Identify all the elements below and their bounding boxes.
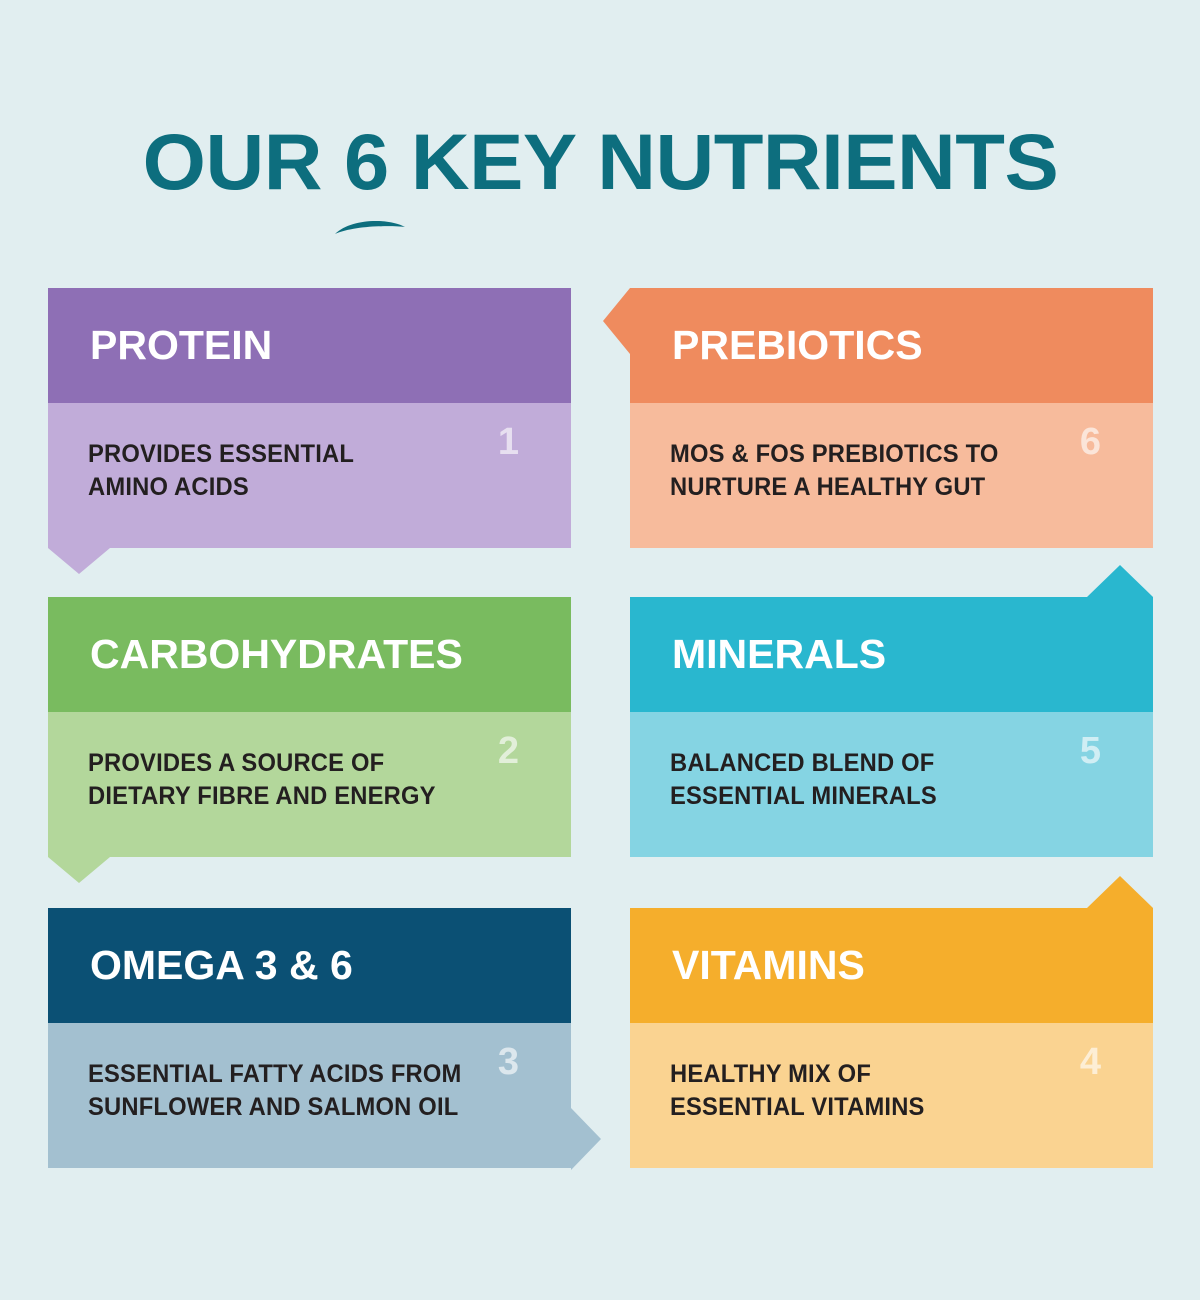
card-vitamins-number: 4 xyxy=(1080,1043,1101,1081)
card-protein-title: PROTEIN xyxy=(48,325,272,366)
card-protein-arrow-down-icon xyxy=(48,548,110,574)
card-omega-header: OMEGA 3 & 6 xyxy=(48,908,571,1023)
card-carbohydrates-title: CARBOHYDRATES xyxy=(48,634,463,675)
card-carbohydrates-body: PROVIDES A SOURCE OF DIETARY FIBRE AND E… xyxy=(48,712,571,857)
card-minerals-body: BALANCED BLEND OF ESSENTIAL MINERALS 5 xyxy=(630,712,1153,857)
card-vitamins-body: HEALTHY MIX OF ESSENTIAL VITAMINS 4 xyxy=(630,1023,1153,1168)
card-minerals-number: 5 xyxy=(1080,732,1101,770)
card-omega-arrow-right-icon xyxy=(571,1108,601,1170)
card-vitamins-description: HEALTHY MIX OF ESSENTIAL VITAMINS xyxy=(670,1058,925,1125)
nutrient-cards-grid: PROTEIN PROVIDES ESSENTIAL AMINO ACIDS 1… xyxy=(0,0,1200,1300)
card-carbohydrates[interactable]: CARBOHYDRATES PROVIDES A SOURCE OF DIETA… xyxy=(48,597,571,857)
card-protein-description: PROVIDES ESSENTIAL AMINO ACIDS xyxy=(88,438,354,505)
card-prebiotics-header: PREBIOTICS xyxy=(630,288,1153,403)
card-protein[interactable]: PROTEIN PROVIDES ESSENTIAL AMINO ACIDS 1 xyxy=(48,288,571,548)
card-minerals[interactable]: MINERALS BALANCED BLEND OF ESSENTIAL MIN… xyxy=(630,597,1153,857)
card-prebiotics[interactable]: PREBIOTICS MOS & FOS PREBIOTICS TO NURTU… xyxy=(630,288,1153,548)
card-prebiotics-description: MOS & FOS PREBIOTICS TO NURTURE A HEALTH… xyxy=(670,438,999,505)
card-prebiotics-number: 6 xyxy=(1080,423,1101,461)
card-omega[interactable]: OMEGA 3 & 6 ESSENTIAL FATTY ACIDS FROM S… xyxy=(48,908,571,1168)
card-omega-description: ESSENTIAL FATTY ACIDS FROM SUNFLOWER AND… xyxy=(88,1058,462,1125)
card-minerals-header: MINERALS xyxy=(630,597,1153,712)
card-protein-body: PROVIDES ESSENTIAL AMINO ACIDS 1 xyxy=(48,403,571,548)
card-minerals-description: BALANCED BLEND OF ESSENTIAL MINERALS xyxy=(670,747,937,814)
card-protein-number: 1 xyxy=(498,423,519,461)
card-carbohydrates-number: 2 xyxy=(498,732,519,770)
card-prebiotics-title: PREBIOTICS xyxy=(630,325,923,366)
card-protein-header: PROTEIN xyxy=(48,288,571,403)
card-prebiotics-body: MOS & FOS PREBIOTICS TO NURTURE A HEALTH… xyxy=(630,403,1153,548)
card-vitamins[interactable]: VITAMINS HEALTHY MIX OF ESSENTIAL VITAMI… xyxy=(630,908,1153,1168)
card-vitamins-arrow-up-icon xyxy=(1087,876,1153,908)
card-minerals-arrow-up-icon xyxy=(1087,565,1153,597)
card-carbohydrates-arrow-down-icon xyxy=(48,857,110,883)
card-carbohydrates-header: CARBOHYDRATES xyxy=(48,597,571,712)
card-vitamins-title: VITAMINS xyxy=(630,945,865,986)
card-minerals-title: MINERALS xyxy=(630,634,886,675)
card-carbohydrates-description: PROVIDES A SOURCE OF DIETARY FIBRE AND E… xyxy=(88,747,436,814)
card-omega-body: ESSENTIAL FATTY ACIDS FROM SUNFLOWER AND… xyxy=(48,1023,571,1168)
card-omega-title: OMEGA 3 & 6 xyxy=(48,945,353,986)
card-vitamins-header: VITAMINS xyxy=(630,908,1153,1023)
card-omega-number: 3 xyxy=(498,1043,519,1081)
card-prebiotics-arrow-left-icon xyxy=(603,288,630,354)
